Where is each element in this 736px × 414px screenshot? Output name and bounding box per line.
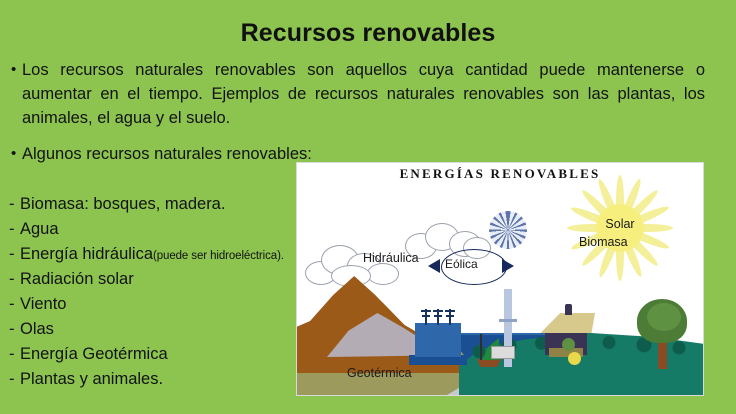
page-title: Recursos renovables [0,17,736,49]
bullet-paragraph-1: • Los recursos naturales renovables son … [11,58,705,130]
hidraulica-label: Hidráulica [363,251,419,265]
list-item-label: Radiación solar [20,270,134,288]
list-item-label: Agua [20,220,59,238]
tree-crown-highlight [647,303,681,331]
power-pylon-icon [449,309,451,325]
slide-canvas: Recursos renovables • Los recursos natur… [0,0,736,414]
sun-icon: Solar [565,173,675,283]
list-item: -Agua [9,217,299,242]
list-item: -Biomasa: bosques, madera. [9,192,299,217]
geotermica-label: Geotérmica [347,366,412,380]
house-roof [537,313,595,333]
dash-marker-icon: - [9,192,20,217]
renewable-energies-illustration: ENERGÍAS RENOVABLES Solar [297,163,703,395]
list-item: -Olas [9,317,299,342]
renewable-resources-list: -Biomasa: bosques, madera. -Agua -Energí… [9,192,299,392]
list-item-label: Plantas y animales. [20,370,163,388]
dash-marker-icon: - [9,267,20,292]
list-item-label: Energía Geotérmica [20,345,168,363]
bullet-dot-icon: • [11,58,22,82]
dash-marker-icon: - [9,342,20,367]
list-item-label: Biomasa: bosques, madera. [20,195,225,213]
boat-mast [480,334,482,360]
solar-label: Solar [565,217,675,231]
list-item-label: Olas [20,320,54,338]
hydro-dam [415,323,461,357]
list-item-label: Viento [20,295,67,313]
arrow-right-icon [502,259,514,273]
biomass-bush-icon [562,338,575,351]
list-item: -Plantas y animales. [9,367,299,392]
biomass-container [491,346,515,359]
eolica-label: Eólica [445,257,478,271]
arrow-left-icon [428,259,440,273]
biomasa-label: Biomasa [579,235,628,249]
house-chimney [565,304,572,315]
biomass-crop-icon [568,352,581,365]
dash-marker-icon: - [9,292,20,317]
list-item: -Energía hidráulica(puede ser hidroeléct… [9,242,299,267]
bullet-text-1: Los recursos naturales renovables son aq… [22,58,705,130]
dash-marker-icon: - [9,242,20,267]
power-pylon-icon [425,309,427,325]
windmill-rotor-icon [489,211,527,249]
dash-marker-icon: - [9,367,20,392]
bullet-row: • Los recursos naturales renovables son … [11,58,705,130]
list-item: -Radiación solar [9,267,299,292]
dash-marker-icon: - [9,317,20,342]
list-item-note: (puede ser hidroeléctrica). [153,250,284,262]
dash-marker-icon: - [9,217,20,242]
list-item: -Energía Geotérmica [9,342,299,367]
power-pylon-icon [437,309,439,325]
bullet-dot-icon: • [11,142,22,166]
boat-hull [477,359,501,367]
list-item: -Viento [9,292,299,317]
list-item-label: Energía hidráulica [20,245,153,263]
